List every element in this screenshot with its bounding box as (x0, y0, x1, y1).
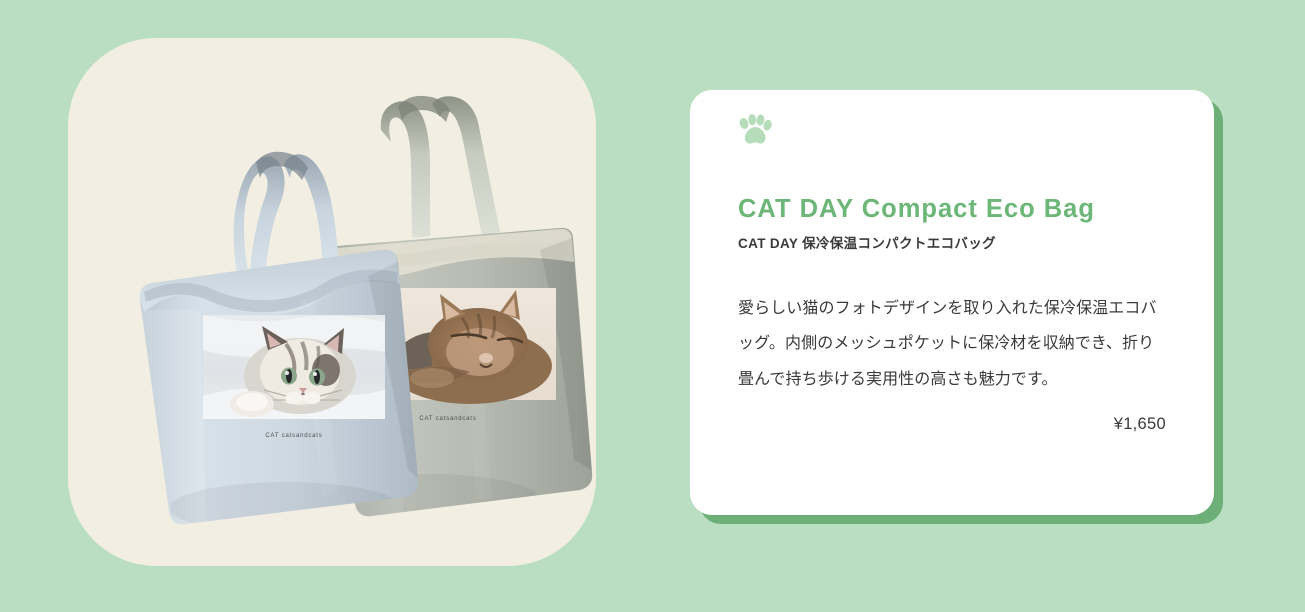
product-price: ¥1,650 (738, 415, 1166, 434)
front-bag-cat-print (203, 315, 385, 419)
back-bag-print-caption: CAT catsandcats (419, 416, 476, 422)
product-showcase-page: CAT catsandcats (0, 0, 1305, 612)
eco-bag-product-photo: CAT catsandcats (0, 0, 660, 612)
front-eco-bag: CAT catsandcats (140, 152, 418, 534)
front-bag-print-caption: CAT catsandcats (265, 433, 322, 439)
product-info-card: CAT DAY Compact Eco Bag CAT DAY 保冷保温コンパク… (690, 90, 1214, 515)
paw-icon (738, 114, 772, 146)
product-visual-panel: CAT catsandcats (0, 0, 660, 612)
product-subtitle: CAT DAY 保冷保温コンパクトエコバッグ (738, 236, 1166, 252)
product-description: 愛らしい猫のフォトデザインを取り入れた保冷保温エコバッグ。内側のメッシュポケット… (738, 291, 1168, 398)
product-title: CAT DAY Compact Eco Bag (738, 195, 1166, 224)
